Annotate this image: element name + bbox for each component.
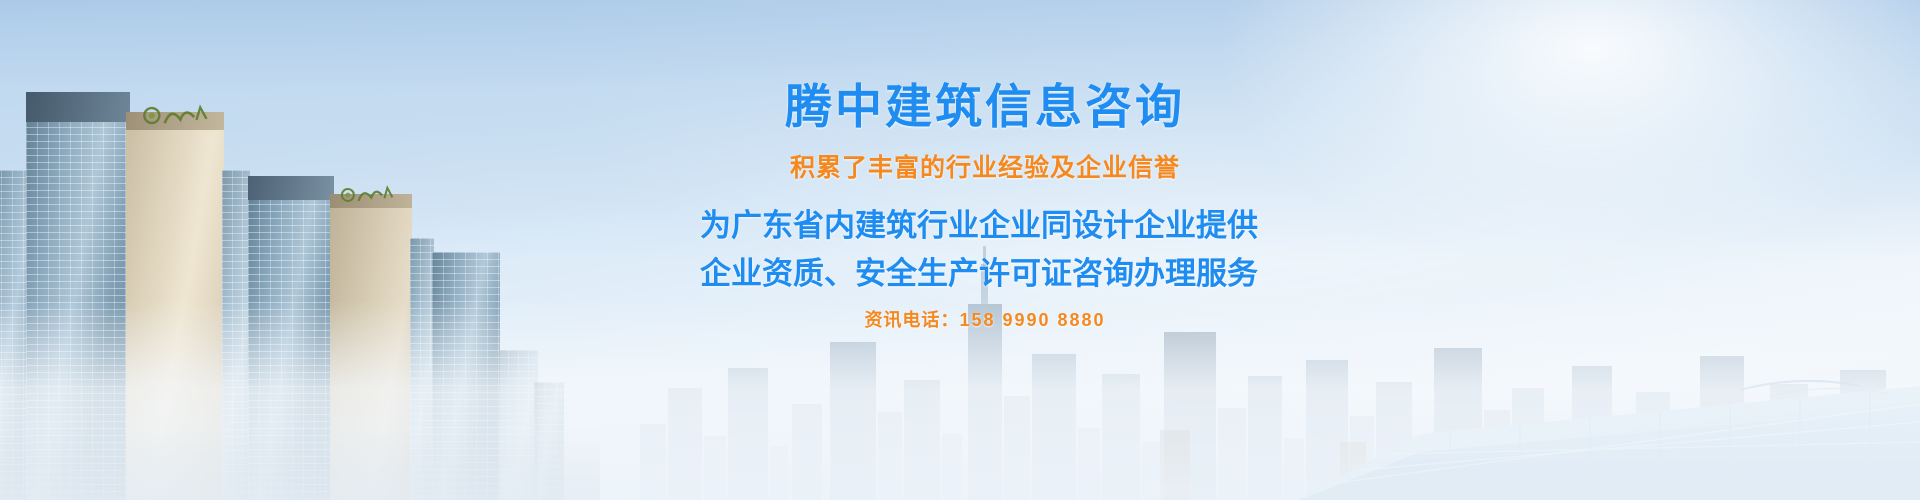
contact-phone: 资讯电话：158 9990 8880 bbox=[780, 306, 1190, 332]
contact-phone-number: 158 9990 8880 bbox=[959, 310, 1105, 330]
banner-description-line-1: 为广东省内建筑行业企业同设计企业提供 bbox=[700, 200, 1190, 245]
banner-title: 腾中建筑信息咨询 bbox=[785, 68, 1185, 137]
banner-description-line-2: 企业资质、安全生产许可证咨询办理服务 bbox=[700, 248, 1190, 293]
banner-subtitle: 积累了丰富的行业经验及企业信誉 bbox=[780, 148, 1190, 184]
banner-copy: 腾中建筑信息咨询 积累了丰富的行业经验及企业信誉 为广东省内建筑行业企业同设计企… bbox=[0, 0, 1920, 500]
hero-banner: 腾中建筑信息咨询 积累了丰富的行业经验及企业信誉 为广东省内建筑行业企业同设计企… bbox=[0, 0, 1920, 500]
contact-phone-label: 资讯电话： bbox=[864, 310, 959, 330]
